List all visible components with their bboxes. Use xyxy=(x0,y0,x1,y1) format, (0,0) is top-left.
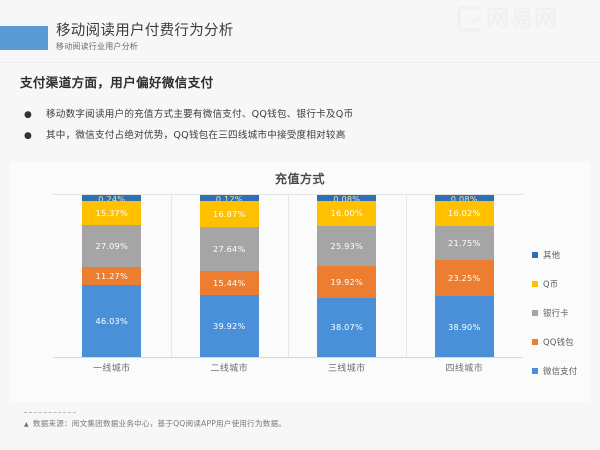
chart-bar-segment-label: 15.37% xyxy=(96,208,128,218)
chart-legend-swatch xyxy=(532,368,538,374)
chart-bar-segment[interactable]: 16.02% xyxy=(435,201,494,226)
section-heading: 支付渠道方面，用户偏好微信支付 xyxy=(20,72,214,91)
header-text-group: 移动阅读用户付费行为分析 移动阅读行业用户分析 xyxy=(56,22,234,53)
chart-legend-item[interactable]: 微信支付 xyxy=(532,356,592,385)
chart-x-tick-label: 三线城市 xyxy=(288,361,406,374)
chart-x-tick-label: 四线城市 xyxy=(406,361,524,374)
chart-bar-slot: 0.24%15.37%27.09%11.27%46.03% xyxy=(53,195,171,357)
chart-bar-segment-label: 23.25% xyxy=(448,273,480,283)
footer-note: ▲ 数据来源：阅文集团数据业务中心，基于QQ阅读APP用户使用行为数据。 xyxy=(24,418,444,429)
chart-bar[interactable]: 0.08%16.02%21.75%23.25%38.90% xyxy=(435,195,494,357)
chart-bar-segment-label: 11.27% xyxy=(96,271,128,281)
chart-legend-item[interactable]: QQ钱包 xyxy=(532,327,592,356)
bullet-list: ● 移动数字阅读用户的充值方式主要有微信支付、QQ钱包、银行卡及Q币 ● 其中，… xyxy=(24,108,554,150)
chart-plot-area: 0.24%15.37%27.09%11.27%46.03%0.12%16.87%… xyxy=(53,194,523,358)
chart-bar-segment[interactable]: 15.44% xyxy=(200,271,259,295)
chart-legend-label: QQ钱包 xyxy=(543,336,574,348)
chart-bar-segment-label: 38.90% xyxy=(448,322,480,332)
footer: ▲ 数据来源：阅文集团数据业务中心，基于QQ阅读APP用户使用行为数据。 xyxy=(24,412,444,429)
list-item: ● 其中，微信支付占绝对优势，QQ钱包在三四线城市中接受度相对较高 xyxy=(24,129,554,143)
bullet-dot-icon: ● xyxy=(24,108,34,122)
chart-bar-segment[interactable]: 38.07% xyxy=(317,298,376,357)
bullet-text: 移动数字阅读用户的充值方式主要有微信支付、QQ钱包、银行卡及Q币 xyxy=(46,108,353,122)
chart-bar-segment-label: 39.92% xyxy=(213,321,245,331)
header-accent-bar xyxy=(0,26,48,50)
chart-bar-segment-label: 15.44% xyxy=(213,278,245,288)
chart-bar[interactable]: 0.24%15.37%27.09%11.27%46.03% xyxy=(82,195,141,357)
chart-bar-segment[interactable]: 23.25% xyxy=(435,260,494,296)
chart-bar-slot: 0.08%16.00%25.93%19.92%38.07% xyxy=(288,195,406,357)
watermark-logo-text: 网易网 xyxy=(486,6,558,32)
chart-bar-segment[interactable]: 15.37% xyxy=(82,201,141,225)
chart-x-axis: 一线城市二线城市三线城市四线城市 xyxy=(53,361,523,374)
chart-bar[interactable]: 0.12%16.87%27.64%15.44%39.92% xyxy=(200,195,259,357)
chart-legend-label: 银行卡 xyxy=(543,307,569,319)
chart-legend-label: 微信支付 xyxy=(543,365,577,377)
page-header: 移动阅读用户付费行为分析 移动阅读行业用户分析 xyxy=(0,26,234,53)
chart-bar-segment[interactable]: 16.00% xyxy=(317,201,376,226)
chart-x-tick-label: 二线城市 xyxy=(171,361,289,374)
list-item: ● 移动数字阅读用户的充值方式主要有微信支付、QQ钱包、银行卡及Q币 xyxy=(24,108,554,122)
watermark-logo: 网易网 xyxy=(457,4,592,34)
chart-bar-segment[interactable]: 11.27% xyxy=(82,267,141,285)
netease-watermark: 网易网 WWW.WEB1E.NET xyxy=(457,4,592,50)
chart-legend-item[interactable]: 银行卡 xyxy=(532,298,592,327)
bullet-dot-icon: ● xyxy=(24,129,34,143)
chart-bars: 0.24%15.37%27.09%11.27%46.03%0.12%16.87%… xyxy=(53,195,523,357)
chart-legend-label: Q币 xyxy=(543,278,558,290)
chart-legend-swatch xyxy=(532,252,538,258)
chart-legend-swatch xyxy=(532,339,538,345)
chart-bar-slot: 0.12%16.87%27.64%15.44%39.92% xyxy=(171,195,289,357)
page-title: 移动阅读用户付费行为分析 xyxy=(56,22,234,41)
chart-legend: 其他Q币银行卡QQ钱包微信支付 xyxy=(532,240,592,385)
header-divider xyxy=(0,62,600,63)
chart-bar-segment[interactable]: 27.64% xyxy=(200,227,259,270)
chart-bar-segment-label: 38.07% xyxy=(331,322,363,332)
chart-bar-segment-label: 27.09% xyxy=(96,241,128,251)
chart-legend-item[interactable]: Q币 xyxy=(532,269,592,298)
chart-legend-swatch xyxy=(532,281,538,287)
chart-bar[interactable]: 0.08%16.00%25.93%19.92%38.07% xyxy=(317,195,376,357)
chart-bar-segment[interactable]: 21.75% xyxy=(435,226,494,260)
chart-bar-segment[interactable]: 39.92% xyxy=(200,295,259,357)
footer-note-text: 数据来源：阅文集团数据业务中心，基于QQ阅读APP用户使用行为数据。 xyxy=(33,418,286,429)
bullet-text: 其中，微信支付占绝对优势，QQ钱包在三四线城市中接受度相对较高 xyxy=(46,129,346,143)
triangle-up-icon: ▲ xyxy=(24,421,29,428)
footer-divider xyxy=(24,412,76,413)
chart-legend-label: 其他 xyxy=(543,249,560,261)
chart-bar-segment[interactable]: 46.03% xyxy=(82,285,141,357)
netease-logo-icon xyxy=(457,6,483,32)
chart-bar-segment-label: 25.93% xyxy=(331,241,363,251)
chart-bar-segment[interactable]: 19.92% xyxy=(317,266,376,297)
chart-bar-segment-label: 27.64% xyxy=(213,244,245,254)
chart-x-tick-label: 一线城市 xyxy=(53,361,171,374)
chart-bar-segment-label: 16.87% xyxy=(213,209,245,219)
chart-title: 充值方式 xyxy=(10,170,590,187)
chart-bar-slot: 0.08%16.02%21.75%23.25%38.90% xyxy=(406,195,524,357)
watermark-url: WWW.WEB1E.NET xyxy=(457,36,592,44)
chart-bar-segment-label: 46.03% xyxy=(96,316,128,326)
chart-legend-item[interactable]: 其他 xyxy=(532,240,592,269)
chart-legend-swatch xyxy=(532,310,538,316)
chart-bar-segment-label: 21.75% xyxy=(448,238,480,248)
chart-bar-segment-label: 16.02% xyxy=(448,208,480,218)
chart-bar-segment[interactable]: 16.87% xyxy=(200,201,259,227)
chart-bar-segment-label: 16.00% xyxy=(331,208,363,218)
chart-bar-segment-label: 19.92% xyxy=(331,277,363,287)
chart-bar-segment[interactable]: 25.93% xyxy=(317,226,376,266)
chart-bar-segment[interactable]: 38.90% xyxy=(435,296,494,357)
chart-card: 充值方式 0.24%15.37%27.09%11.27%46.03%0.12%1… xyxy=(10,162,590,402)
page-subtitle: 移动阅读行业用户分析 xyxy=(56,41,234,53)
chart-bar-segment[interactable]: 27.09% xyxy=(82,225,141,267)
